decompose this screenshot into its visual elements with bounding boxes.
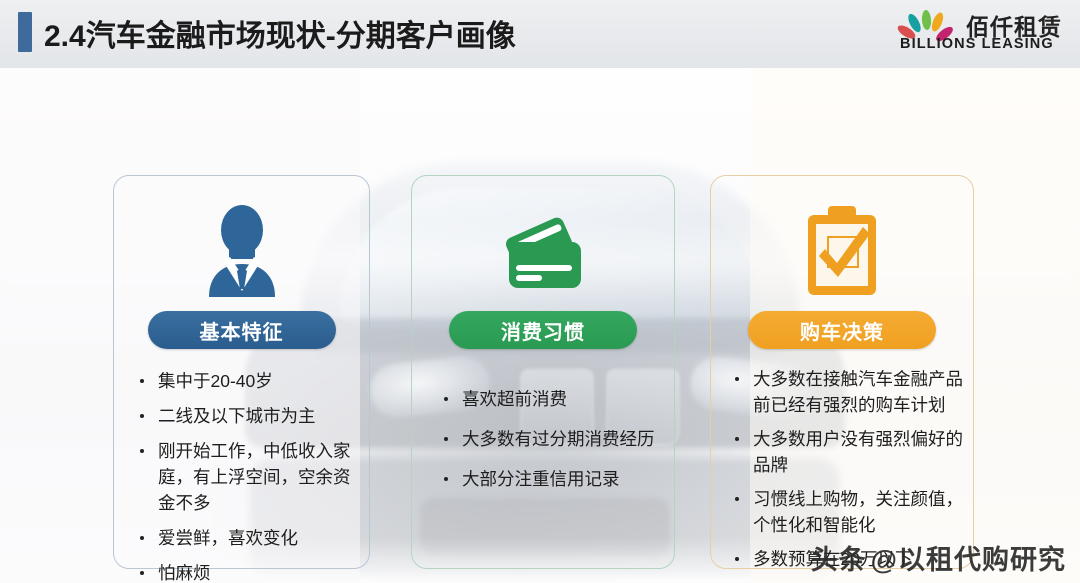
list-item: 大多数用户没有强烈偏好的品牌 [725,426,967,478]
businessman-icon [114,198,369,303]
card-title-basic-characteristics: 基本特征 [148,311,336,349]
credit-cards-icon [412,198,674,303]
header-accent-bar [18,12,32,52]
list-item: 爱尝鲜，喜欢变化 [130,525,359,551]
logo-english-name: BILLIONS LEASING [900,36,1054,52]
bullet-list-basic-characteristics: 集中于20-40岁 二线及以下城市为主 刚开始工作，中低收入家庭，有上浮空间，空… [130,368,359,583]
card-consumption-habits[interactable]: 消费习惯 喜欢超前消费 大多数有过分期消费经历 大部分注重信用记录 [411,175,675,569]
list-item: 集中于20-40岁 [130,368,359,394]
watermark-handle: @以租代购研究 [871,545,1066,575]
list-item: 大多数在接触汽车金融产品前已经有强烈的购车计划 [725,366,967,418]
card-title-purchase-decision: 购车决策 [748,311,936,349]
page-title: 2.4汽车金融市场现状-分期客户画像 [44,8,516,58]
list-item: 怕麻烦 [130,560,359,583]
clipboard-check-icon [711,198,973,303]
card-purchase-decision[interactable]: 购车决策 大多数在接触汽车金融产品前已经有强烈的购车计划 大多数用户没有强烈偏好… [710,175,974,569]
company-logo: 佰仟租赁 BILLIONS LEASING [896,8,1066,62]
list-item: 大部分注重信用记录 [434,466,664,492]
list-item: 二线及以下城市为主 [130,403,359,429]
card-basic-characteristics[interactable]: 基本特征 集中于20-40岁 二线及以下城市为主 刚开始工作，中低收入家庭，有上… [113,175,370,569]
watermark-source: 头条 [811,545,867,575]
watermark: 头条@以租代购研究 [811,538,1066,577]
bullet-list-consumption-habits: 喜欢超前消费 大多数有过分期消费经历 大部分注重信用记录 [434,386,664,506]
list-item: 习惯线上购物，关注颜值，个性化和智能化 [725,486,967,538]
list-item: 大多数有过分期消费经历 [434,426,664,452]
slide-canvas: 2.4汽车金融市场现状-分期客户画像 佰仟租赁 BILLIONS LEASING… [0,0,1080,583]
slide-header: 2.4汽车金融市场现状-分期客户画像 佰仟租赁 BILLIONS LEASING [0,0,1080,68]
list-item: 喜欢超前消费 [434,386,664,412]
list-item: 刚开始工作，中低收入家庭，有上浮空间，空余资金不多 [130,438,359,516]
card-title-consumption-habits: 消费习惯 [449,311,637,349]
